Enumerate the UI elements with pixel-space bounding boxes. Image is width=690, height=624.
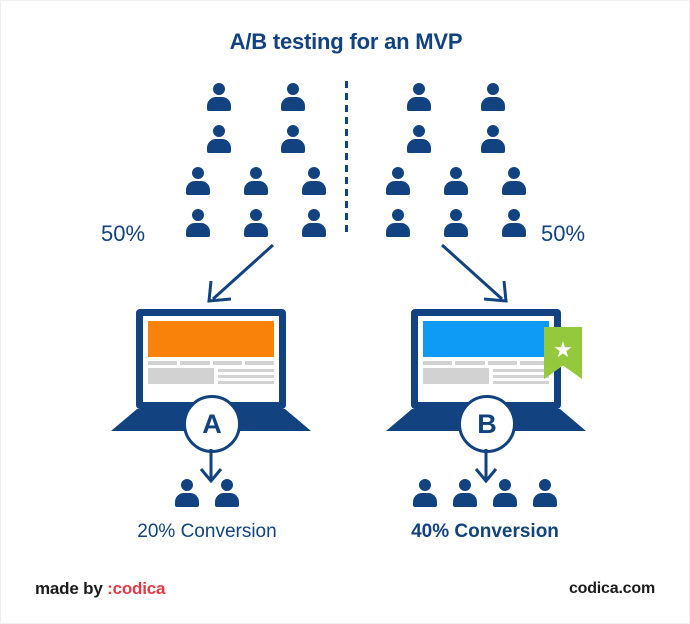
conversion-people-b bbox=[335, 479, 635, 509]
text-line bbox=[493, 381, 549, 384]
person-row bbox=[366, 167, 546, 197]
image-placeholder-block bbox=[148, 368, 214, 384]
laptop-screen-content bbox=[418, 316, 554, 402]
person-icon bbox=[501, 167, 527, 197]
website-url: codica.com bbox=[569, 580, 655, 598]
person-icon bbox=[480, 83, 506, 113]
conversion-label-b: 40% Conversion bbox=[335, 521, 635, 543]
conversion-result-a: 20% Conversion bbox=[57, 479, 357, 543]
nav-bar-item bbox=[180, 361, 209, 365]
nav-bar-row bbox=[148, 361, 274, 365]
made-by-prefix: made by bbox=[35, 579, 107, 598]
person-row bbox=[166, 167, 346, 197]
person-icon bbox=[532, 479, 558, 509]
text-line bbox=[218, 381, 274, 384]
person-row bbox=[166, 209, 346, 239]
conversion-people-a bbox=[57, 479, 357, 509]
variant-badge-b: B bbox=[458, 395, 516, 453]
nav-bar-row bbox=[423, 361, 549, 365]
variant-b-laptop: ★ B bbox=[386, 309, 586, 437]
person-icon bbox=[480, 125, 506, 155]
person-icon bbox=[214, 479, 240, 509]
nav-bar-item bbox=[148, 361, 177, 365]
person-icon bbox=[492, 479, 518, 509]
image-placeholder-block bbox=[423, 368, 489, 384]
person-icon bbox=[406, 83, 432, 113]
person-icon bbox=[406, 125, 432, 155]
laptop-screen-frame bbox=[136, 309, 286, 409]
variant-badge-a: A bbox=[183, 395, 241, 453]
orange-hero-banner bbox=[148, 321, 274, 357]
nav-bar-item bbox=[245, 361, 274, 365]
person-icon bbox=[443, 209, 469, 239]
split-label-left: 50% bbox=[101, 221, 145, 247]
person-icon bbox=[452, 479, 478, 509]
arrow-down-icon-a bbox=[197, 449, 225, 483]
conversion-result-b: 40% Conversion bbox=[335, 479, 635, 543]
person-icon bbox=[412, 479, 438, 509]
audience-group-right bbox=[366, 83, 546, 251]
person-icon bbox=[301, 167, 327, 197]
person-icon bbox=[185, 209, 211, 239]
person-row bbox=[366, 209, 546, 239]
text-line bbox=[493, 375, 549, 378]
text-line bbox=[218, 369, 274, 372]
person-icon bbox=[243, 167, 269, 197]
person-icon bbox=[280, 125, 306, 155]
person-icon bbox=[206, 83, 232, 113]
conversion-label-a: 20% Conversion bbox=[57, 521, 357, 543]
person-row bbox=[366, 125, 546, 155]
text-line bbox=[218, 375, 274, 378]
person-icon bbox=[185, 167, 211, 197]
person-icon bbox=[443, 167, 469, 197]
content-lower bbox=[423, 368, 549, 384]
person-row bbox=[166, 125, 346, 155]
split-label-right: 50% bbox=[541, 221, 585, 247]
person-row bbox=[166, 83, 346, 113]
arrow-down-icon-b bbox=[472, 449, 500, 483]
winner-ribbon: ★ bbox=[544, 327, 582, 379]
text-line bbox=[493, 369, 549, 372]
laptop-screen-frame bbox=[411, 309, 561, 409]
nav-bar-item bbox=[455, 361, 484, 365]
person-icon bbox=[501, 209, 527, 239]
content-lower bbox=[148, 368, 274, 384]
infographic-canvas: A/B testing for an MVP bbox=[0, 0, 690, 624]
blue-hero-banner bbox=[423, 321, 549, 357]
person-icon bbox=[280, 83, 306, 113]
codica-brand: :codica bbox=[107, 579, 165, 598]
person-icon bbox=[385, 167, 411, 197]
variant-a-laptop: A bbox=[111, 309, 311, 437]
laptop-screen-content bbox=[143, 316, 279, 402]
text-lines-group bbox=[218, 368, 274, 384]
made-by-credit: made by :codica bbox=[35, 579, 165, 599]
text-lines-group bbox=[493, 368, 549, 384]
person-row bbox=[366, 83, 546, 113]
person-icon bbox=[301, 209, 327, 239]
nav-bar-item bbox=[488, 361, 517, 365]
person-icon bbox=[385, 209, 411, 239]
arrow-down-right-icon bbox=[436, 241, 526, 309]
person-icon bbox=[174, 479, 200, 509]
page-title: A/B testing for an MVP bbox=[1, 29, 690, 55]
person-icon bbox=[243, 209, 269, 239]
star-icon: ★ bbox=[553, 339, 573, 361]
arrow-down-left-icon bbox=[191, 241, 281, 309]
audience-group-left bbox=[166, 83, 346, 251]
nav-bar-item bbox=[423, 361, 452, 365]
nav-bar-item bbox=[213, 361, 242, 365]
person-icon bbox=[206, 125, 232, 155]
